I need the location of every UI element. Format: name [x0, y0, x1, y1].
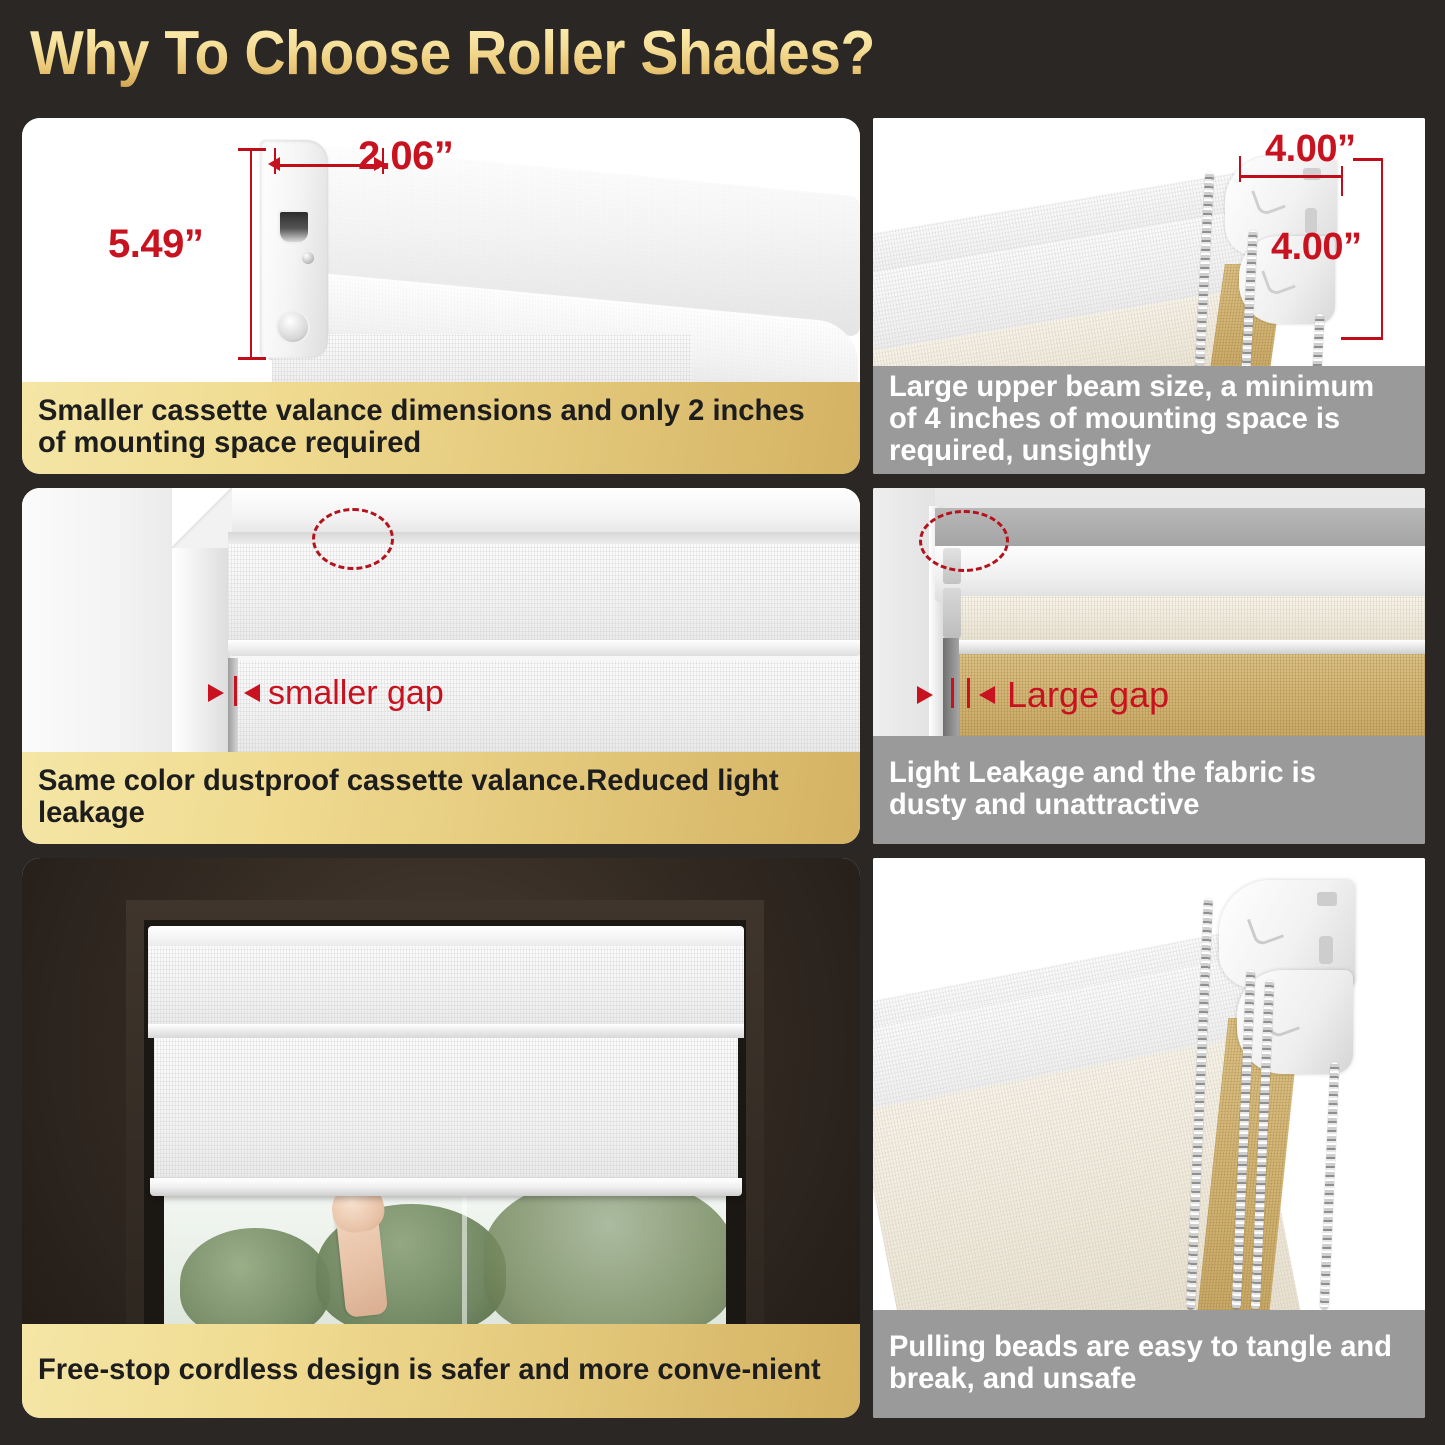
gap-tick	[234, 676, 237, 706]
bead-chain-long-4	[1320, 1062, 1340, 1310]
dim-v-line	[1381, 158, 1383, 340]
endcap-chain-slot	[278, 210, 310, 244]
shade-valance	[148, 946, 744, 1030]
large-gap-arrow-right	[979, 686, 995, 704]
window-frame-scene: smaller gap	[22, 488, 860, 752]
tree-right	[484, 1188, 726, 1324]
shade-bottom-rail	[150, 1178, 742, 1196]
shade-headrail-top	[148, 926, 744, 948]
dim-v-tick-bottom	[1341, 337, 1383, 340]
large-gap-tick-b	[967, 678, 970, 708]
panel-large-upper-beam: 4.00” 4.00” Large upper beam size, a min…	[873, 118, 1425, 474]
dim-5-49-line	[250, 148, 252, 360]
light-leakage-scene: Large gap	[873, 488, 1425, 736]
dim-5-49-tick-bottom	[238, 357, 266, 360]
bottom-rail-con	[959, 640, 1425, 654]
highlight-circle-icon	[312, 508, 394, 570]
bead-chain-3	[1312, 314, 1324, 366]
frame-corner-join	[172, 488, 232, 548]
dim-label-4-00-h: 4.00”	[1265, 128, 1355, 171]
roller-front-white	[935, 546, 1425, 602]
gap-arrow-right	[244, 684, 260, 702]
panel-2-photo: 4.00” 4.00”	[873, 118, 1425, 366]
panel-cordless-design: Free-stop cordless design is safer and m…	[22, 858, 860, 1418]
bracket-clip-lower	[943, 588, 961, 638]
panel-cassette-dimensions: 2.06” 5.49” Smaller cassette valance dim…	[22, 118, 860, 474]
gap-arrow-left	[208, 684, 224, 702]
panel-4-caption-text: Light Leakage and the fabric is dusty an…	[889, 757, 1395, 821]
panel-3-photo: smaller gap	[22, 488, 860, 752]
cream-band	[959, 596, 1425, 646]
panel-1-caption: Smaller cassette valance dimensions and …	[22, 382, 860, 474]
large-gap-label: Large gap	[1007, 674, 1169, 716]
smaller-gap-label: smaller gap	[268, 674, 444, 713]
window-frame-top	[172, 488, 860, 534]
panel-pulling-beads: Pulling beads are easy to tangle and bre…	[873, 858, 1425, 1418]
large-gap-tick-a	[951, 678, 954, 708]
panel-2-caption-text: Large upper beam size, a minimum of 4 in…	[889, 371, 1395, 467]
panel-6-caption: Pulling beads are easy to tangle and bre…	[873, 1310, 1425, 1418]
shade-main-fabric	[154, 1038, 738, 1186]
wall-left	[22, 488, 182, 752]
dim-label-4-00-v: 4.00”	[1271, 226, 1361, 269]
endcap-screw	[302, 252, 314, 264]
dim-5-49-tick-top	[238, 148, 266, 151]
panel-5-caption: Free-stop cordless design is safer and m…	[22, 1324, 860, 1418]
cassette-scene: 2.06” 5.49”	[22, 118, 860, 382]
room-scene	[22, 858, 860, 1324]
dim-2-06-arrow-left	[268, 157, 280, 171]
large-beam-scene: 4.00” 4.00”	[873, 118, 1425, 366]
window-mullion	[462, 1188, 467, 1324]
panel-5-photo	[22, 858, 860, 1324]
tree-left	[180, 1228, 330, 1324]
panel-dustproof-valance: smaller gap Same color dustproof cassett…	[22, 488, 860, 844]
dim-label-2-06: 2.06”	[358, 134, 453, 179]
valance-lip	[148, 1024, 744, 1038]
panel-3-caption-text: Same color dustproof cassette valance.Re…	[38, 765, 822, 829]
panel-5-caption-text: Free-stop cordless design is safer and m…	[38, 1354, 821, 1386]
panel-6-caption-text: Pulling beads are easy to tangle and bre…	[889, 1331, 1395, 1395]
panel-2-caption: Large upper beam size, a minimum of 4 in…	[873, 366, 1425, 474]
cassette-bottom-edge	[228, 640, 860, 656]
bead-chain-scene	[873, 858, 1425, 1310]
cassette-hanging-fabric	[272, 334, 692, 382]
panel-3-caption: Same color dustproof cassette valance.Re…	[22, 752, 860, 844]
dim-h-line	[1241, 175, 1341, 178]
panel-4-photo: Large gap	[873, 488, 1425, 736]
dim-h-tick-left	[1239, 156, 1241, 182]
panel-light-leakage: Large gap Light Leakage and the fabric i…	[873, 488, 1425, 844]
panel-6-photo	[873, 858, 1425, 1310]
dim-label-5-49: 5.49”	[108, 222, 203, 267]
endcap-pin	[276, 310, 310, 344]
cassette-endcap	[260, 140, 328, 358]
dim-v-tick-top	[1353, 158, 1383, 161]
comparison-grid: 2.06” 5.49” Smaller cassette valance dim…	[0, 0, 1445, 1445]
highlight-circle-icon	[919, 510, 1009, 572]
panel-4-caption: Light Leakage and the fabric is dusty an…	[873, 736, 1425, 844]
panel-1-photo: 2.06” 5.49”	[22, 118, 860, 382]
window-glass	[164, 1188, 726, 1324]
panel-1-caption-text: Smaller cassette valance dimensions and …	[38, 395, 822, 459]
large-gap-arrow-left	[917, 686, 933, 704]
